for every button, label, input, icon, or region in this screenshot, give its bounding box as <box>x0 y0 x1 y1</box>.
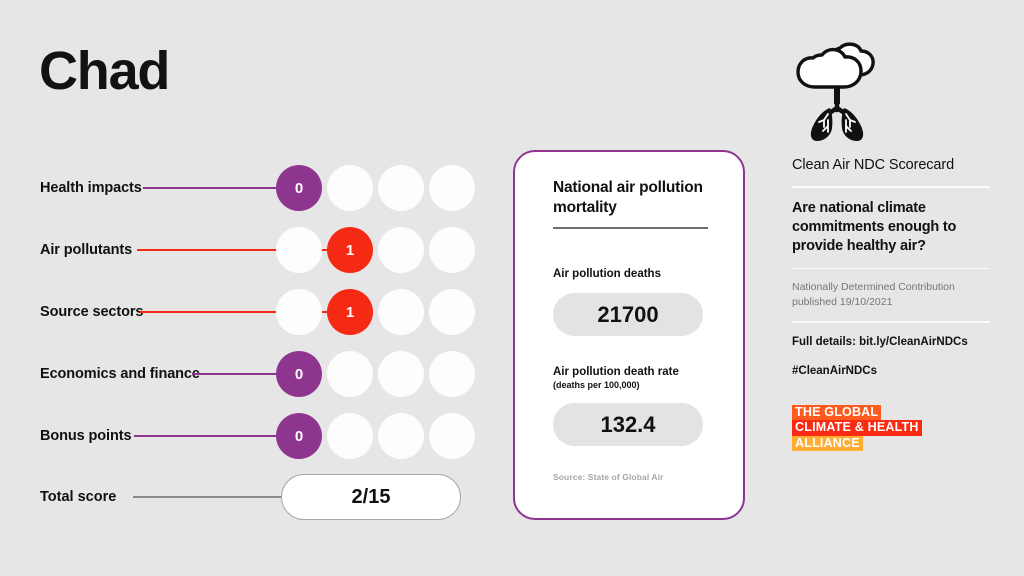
score-dot-empty[interactable] <box>276 289 322 335</box>
score-dot-filled[interactable]: 1 <box>327 227 373 273</box>
total-score-value: 2/15 <box>281 474 461 520</box>
metric-block-deaths: Air pollution deaths 21700 <box>553 267 717 336</box>
mortality-card-title: National air pollution mortality <box>553 178 717 218</box>
metric-value-pill: 21700 <box>553 293 703 336</box>
divider <box>792 321 990 323</box>
score-dot-empty[interactable] <box>429 165 475 211</box>
divider <box>792 186 990 188</box>
score-dot-filled[interactable]: 1 <box>327 289 373 335</box>
score-row-label: Air pollutants <box>40 243 132 258</box>
metric-block-death-rate: Air pollution death rate (deaths per 100… <box>553 365 717 446</box>
score-connector-line <box>192 373 288 375</box>
score-dot-filled[interactable]: 0 <box>276 165 322 211</box>
score-dots: 1 <box>276 289 488 335</box>
score-dots: 0 <box>276 413 488 459</box>
score-dot-empty[interactable] <box>429 413 475 459</box>
score-row: Health impacts0 <box>0 165 500 211</box>
score-dots: 0 <box>276 351 488 397</box>
score-dot-empty[interactable] <box>378 413 424 459</box>
score-dot-empty[interactable] <box>276 227 322 273</box>
total-score-row: Total score2/15 <box>0 474 500 520</box>
metric-value-pill: 132.4 <box>553 403 703 446</box>
gcha-line-1: THE GLOBAL <box>792 405 881 421</box>
score-dot-empty[interactable] <box>378 289 424 335</box>
score-row-label: Bonus points <box>40 429 131 444</box>
score-row: Air pollutants1 <box>0 227 500 273</box>
hashtag: #CleanAirNDCs <box>792 365 992 377</box>
scorecard-panel: Health impacts0Air pollutants1Source sec… <box>0 165 500 520</box>
total-score-label: Total score <box>40 490 116 505</box>
mortality-card: National air pollution mortality Air pol… <box>513 150 745 520</box>
score-dots: 0 <box>276 165 488 211</box>
sidebar: Clean Air NDC Scorecard Are national cli… <box>792 40 992 540</box>
total-connector-line <box>133 496 288 498</box>
score-row: Source sectors1 <box>0 289 500 335</box>
score-dot-filled[interactable]: 0 <box>276 413 322 459</box>
score-row-label: Economics and finance <box>40 367 200 382</box>
score-dots: 1 <box>276 227 488 273</box>
card-title-rule <box>553 227 708 229</box>
cloud-over-lungs-icon <box>794 40 880 142</box>
score-connector-line <box>134 435 288 437</box>
score-dot-empty[interactable] <box>378 165 424 211</box>
metric-label: Air pollution deaths <box>553 267 717 281</box>
full-details-link[interactable]: Full details: bit.ly/CleanAirNDCs <box>792 334 992 350</box>
score-dot-empty[interactable] <box>378 351 424 397</box>
score-row: Bonus points0 <box>0 413 500 459</box>
score-connector-line <box>143 187 288 189</box>
score-dot-empty[interactable] <box>429 351 475 397</box>
score-dot-empty[interactable] <box>327 351 373 397</box>
score-row: Economics and finance0 <box>0 351 500 397</box>
brand-name: Clean Air NDC Scorecard <box>792 156 992 175</box>
card-source-note: Source: State of Global Air <box>553 472 717 482</box>
ndc-publication-meta: Nationally Determined Contribution publi… <box>792 280 992 310</box>
metric-sublabel: (deaths per 100,000) <box>553 380 717 392</box>
score-dot-empty[interactable] <box>327 165 373 211</box>
gcha-line-2: CLIMATE & HEALTH <box>792 420 922 436</box>
score-dot-filled[interactable]: 0 <box>276 351 322 397</box>
gcha-line-3: ALLIANCE <box>792 436 863 452</box>
score-dot-empty[interactable] <box>429 227 475 273</box>
page-title: Chad <box>39 44 169 98</box>
score-dot-empty[interactable] <box>378 227 424 273</box>
score-dot-empty[interactable] <box>327 413 373 459</box>
metric-label: Air pollution death rate <box>553 365 717 379</box>
score-dot-empty[interactable] <box>429 289 475 335</box>
score-row-label: Source sectors <box>40 305 143 320</box>
score-row-label: Health impacts <box>40 181 142 196</box>
gcha-wordmark: THE GLOBAL CLIMATE & HEALTH ALLIANCE <box>792 405 992 452</box>
divider <box>792 268 990 270</box>
tagline: Are national climate commitments enough … <box>792 199 992 257</box>
